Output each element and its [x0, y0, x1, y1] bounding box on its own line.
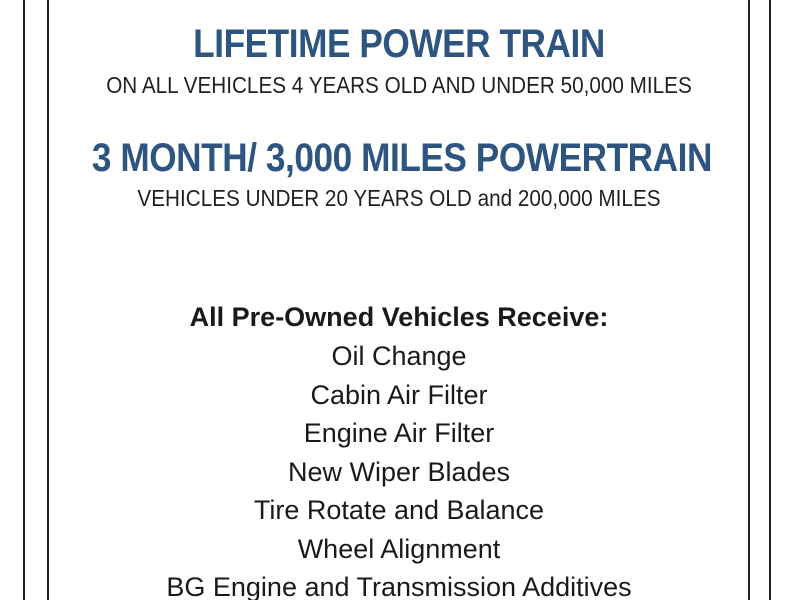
service-item: Engine Air Filter [50, 414, 748, 453]
warranty-subline-lifetime: ON ALL VEHICLES 4 YEARS OLD AND UNDER 50… [85, 73, 713, 98]
warranty-offer-lifetime: LIFETIME POWER TRAIN ON ALL VEHICLES 4 Y… [50, 24, 748, 98]
service-item: Wheel Alignment [50, 530, 748, 569]
service-item: Oil Change [50, 337, 748, 376]
warranty-subline-three-month: VEHICLES UNDER 20 YEARS OLD and 200,000 … [85, 186, 713, 211]
border-rule-left-inner [47, 0, 49, 600]
services-section: All Pre-Owned Vehicles Receive: Oil Chan… [50, 298, 748, 600]
warranty-headline-lifetime: LIFETIME POWER TRAIN [92, 24, 706, 65]
border-rule-left-outer [23, 0, 25, 600]
service-item: Tire Rotate and Balance [50, 491, 748, 530]
services-list: Oil Change Cabin Air Filter Engine Air F… [50, 337, 748, 600]
service-item: BG Engine and Transmission Additives [50, 568, 748, 600]
service-item: New Wiper Blades [50, 453, 748, 492]
border-rule-right-inner [748, 0, 750, 600]
flyer-content: LIFETIME POWER TRAIN ON ALL VEHICLES 4 Y… [50, 0, 748, 600]
border-rule-right-outer [769, 0, 771, 600]
warranty-flyer-page: LIFETIME POWER TRAIN ON ALL VEHICLES 4 Y… [0, 0, 800, 600]
services-section-title: All Pre-Owned Vehicles Receive: [50, 298, 748, 336]
warranty-offer-three-month: 3 MONTH/ 3,000 MILES POWERTRAIN VEHICLES… [50, 138, 748, 211]
warranty-headline-three-month: 3 MONTH/ 3,000 MILES POWERTRAIN [92, 138, 706, 179]
service-item: Cabin Air Filter [50, 376, 748, 415]
